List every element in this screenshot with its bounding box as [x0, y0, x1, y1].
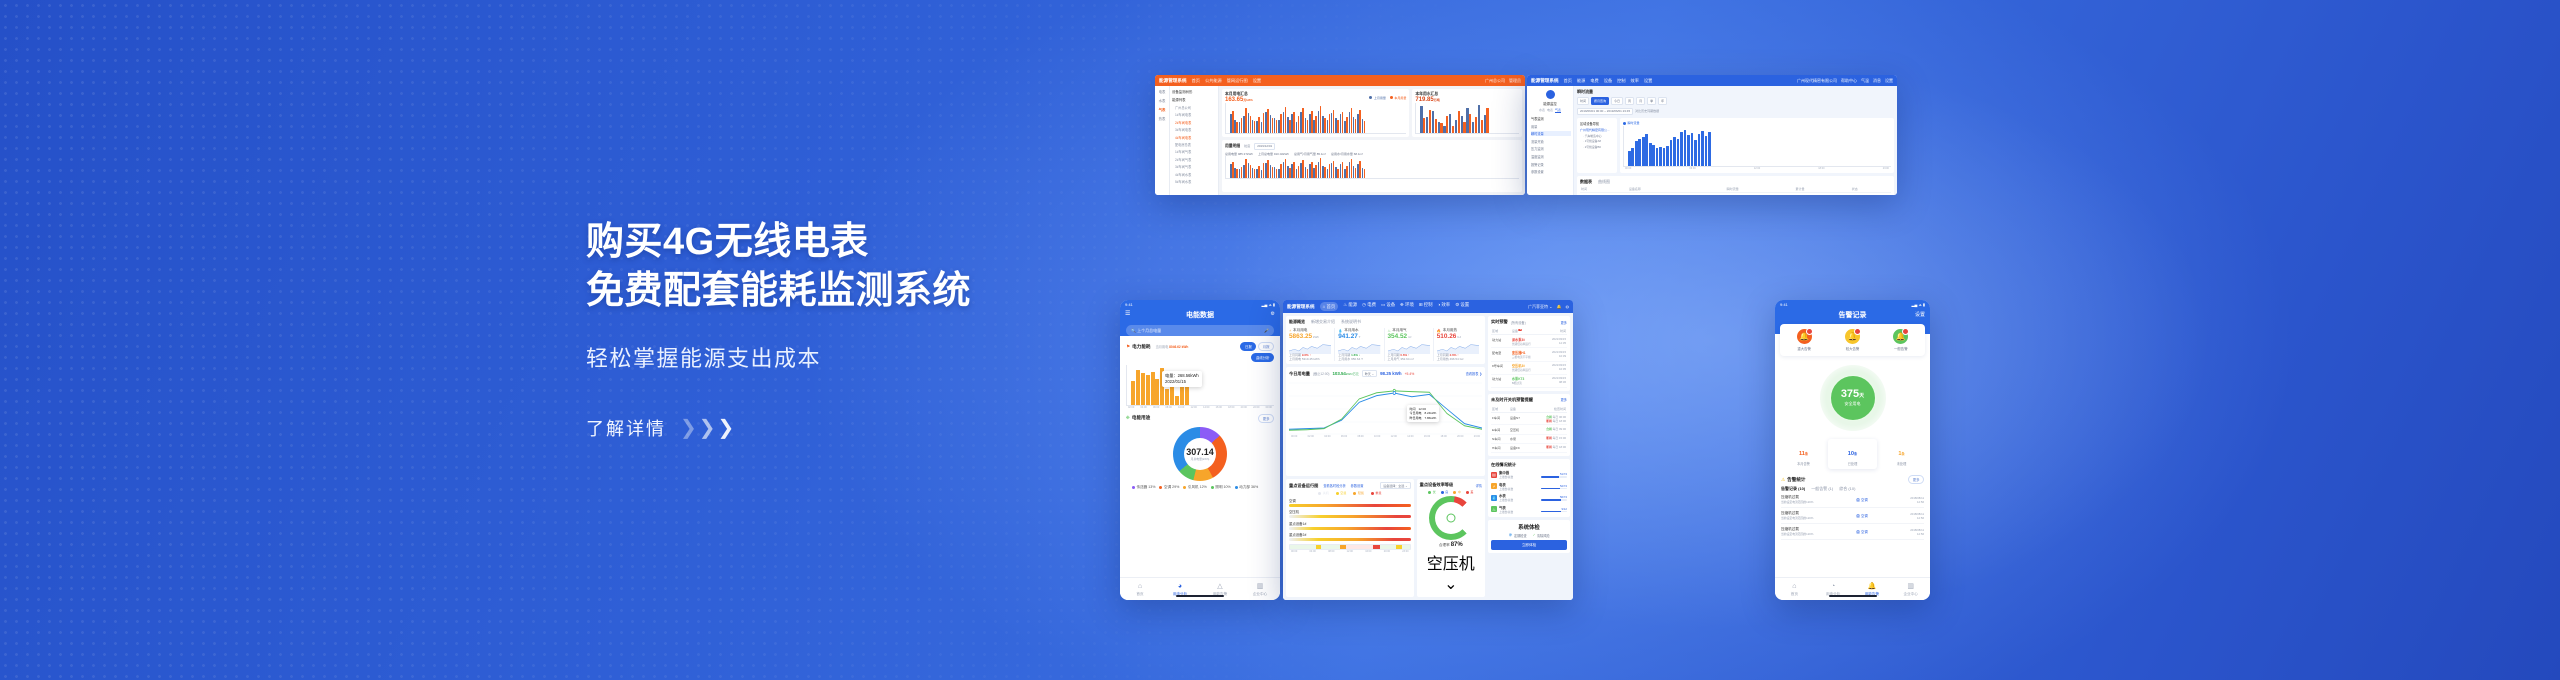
sidebar-item[interactable]: 温度监测: [1531, 154, 1571, 159]
nav-item-设备[interactable]: ▭ 设备: [1381, 302, 1395, 310]
nav-root: 广州现代精密有限公...: [1580, 128, 1614, 132]
tab-label: 首页: [1791, 592, 1798, 596]
reminder-off: 断闸 每日 18:00: [1531, 445, 1566, 449]
bar-group: [1300, 160, 1304, 178]
tab-企业中心[interactable]: ▥企业中心: [1891, 582, 1930, 597]
overview-tab[interactable]: 能源概览: [1289, 319, 1305, 325]
x-axis-labels: 02:0004:0006:0008:0010:0012:0014:0016:00…: [1126, 406, 1274, 409]
tree-item[interactable]: 2#车间气表: [1175, 157, 1216, 162]
kpi-number: 354.52: [1388, 333, 1408, 340]
nav-item[interactable]: 首页: [1564, 78, 1572, 84]
meter-tab[interactable]: 水表: [1539, 108, 1545, 113]
reminder-device: 空压机: [1509, 425, 1530, 434]
kpi-value: 5863.25 kWh: [1289, 333, 1331, 340]
cta-label: 了解详情: [586, 415, 666, 441]
bar-group: [1478, 105, 1483, 133]
kpi-icon: 💧: [1338, 329, 1342, 333]
alerts-more-link[interactable]: 更多: [1561, 320, 1567, 325]
reminder-zone: F车间: [1491, 413, 1509, 425]
overview-tab[interactable]: 系统说明书: [1341, 319, 1361, 325]
top-nav[interactable]: 首页公共能源管网运行图设置: [1192, 78, 1480, 84]
online-text: 气表上线数/总数: [1499, 505, 1539, 514]
kpi-note-2: 上月用热 496.54 GJ: [1437, 357, 1479, 361]
tab-icon: ◕: [1160, 582, 1200, 591]
bar-group: [1649, 143, 1652, 166]
alarm-stat-row[interactable]: 11条本月告警10条已处理1条未处理: [1779, 439, 1926, 469]
nav-item[interactable]: 首页: [1192, 78, 1200, 84]
bar-group: [1274, 118, 1278, 133]
alarm-stat-value: 10条: [1848, 451, 1857, 457]
nav-item-首页[interactable]: ⌂ 首页: [1320, 302, 1339, 310]
tab-首页[interactable]: ⌂首页: [1120, 582, 1160, 597]
bar-group: [1318, 158, 1322, 178]
nav-item-right[interactable]: 管理员: [1509, 78, 1521, 84]
more-button: 更多: [1908, 475, 1924, 484]
filter-pill[interactable]: 按月查询: [1591, 97, 1609, 105]
filter-pill[interactable]: 年: [1658, 97, 1667, 105]
alert-zone: 动力站: [1491, 335, 1511, 348]
bar-group: [1261, 163, 1265, 178]
icon-rail[interactable]: 电表水表气表热表: [1155, 86, 1170, 195]
nav-item[interactable]: 管网运行图: [1227, 78, 1248, 84]
flag-icon: ⚑: [1126, 344, 1130, 350]
nav-item[interactable]: 能源: [1577, 78, 1585, 84]
axis-tick: 23:00: [1474, 435, 1480, 438]
tab-企业中心[interactable]: ▥企业中心: [1240, 582, 1280, 597]
ring-value: 375天: [1841, 389, 1864, 400]
bar-group: [1449, 114, 1454, 134]
rail-item[interactable]: 热表: [1155, 116, 1169, 121]
tree-item[interactable]: 2#车间电表: [1175, 120, 1216, 125]
bar-group: [1705, 136, 1708, 166]
filter-pill[interactable]: 周: [1625, 97, 1634, 105]
tree-item[interactable]: 4#车间电表: [1175, 135, 1216, 140]
tree-item[interactable]: 5#车间水表: [1175, 179, 1216, 184]
equipment-select[interactable]: 空压机 ⌄: [1427, 556, 1475, 593]
bar-group: [1278, 164, 1282, 178]
bar-group: [1230, 162, 1234, 178]
date-range[interactable]: 2019/06/01 00:00 ~ 2019/06/01 23:45: [1577, 108, 1633, 116]
nav-item-right[interactable]: 气温: [1861, 78, 1869, 84]
meter-type-tabs[interactable]: 水表电表气表: [1529, 108, 1571, 113]
axis-tick: 16:00: [1424, 435, 1430, 438]
meter-icon: ♨: [1491, 506, 1497, 512]
notification-icon[interactable]: 🔔: [1557, 304, 1562, 310]
sidebar-item[interactable]: 报警记录: [1531, 162, 1571, 167]
bar-group: [1248, 163, 1252, 178]
alarm-level-cards[interactable]: 🔔重大告警🔔较大告警🔔一般告警: [1780, 324, 1925, 356]
legend-item: 本月用量: [1390, 96, 1407, 100]
tree-item[interactable]: 1#车间电表: [1175, 112, 1216, 117]
alert-row: 动力站水泵KT3B相过流2021/03/1508:36: [1491, 374, 1567, 387]
reminder-row: E车间空压机合闸 每日 09:00: [1491, 425, 1567, 434]
nav-sub-item[interactable]: · 汽车制造中心: [1583, 134, 1614, 138]
app-brand: 能源管理系统: [1159, 78, 1187, 84]
kpi-card: 💧本月用水941.27 T上月同期 1.6% ↓上月用水 956.64 T: [1338, 328, 1384, 361]
sidebar-item[interactable]: 参数设置: [1531, 169, 1571, 174]
alarm-stat-unit: 条: [1854, 452, 1857, 456]
tree-item[interactable]: 4#车间水表: [1175, 172, 1216, 177]
table-tab[interactable]: 曲线图: [1598, 179, 1610, 185]
report-period-toggle[interactable]: 日报月报: [1240, 342, 1274, 351]
overview-tabs[interactable]: 能源概览新增交易介绍系统说明书: [1289, 319, 1482, 325]
start-checkup-button[interactable]: 立即体检: [1491, 540, 1567, 550]
online-text: 电表上线数/总数: [1499, 482, 1539, 491]
nav-item[interactable]: 设置: [1644, 78, 1652, 84]
nav-sub-item[interactable]: · 1号线设备A8: [1583, 139, 1614, 143]
bar-group: [1349, 108, 1353, 133]
axis-tick: 02:00: [1128, 406, 1134, 409]
legend-item: 动力部 36%: [1235, 485, 1258, 490]
filter-pill[interactable]: 月: [1636, 97, 1645, 105]
bar-group: [1283, 159, 1287, 178]
axis-tick: 08:00: [1166, 406, 1172, 409]
date-filter[interactable]: 2019/12/01: [1254, 143, 1275, 150]
screenshot-phone-energy[interactable]: 9:41 ▂▄ ⏶ ▮ ☰ 电能数据 ⚙ 🔍 上个月总电量 🎤 ⚑ 电力能耗: [1120, 300, 1280, 600]
screenshot-energy-dashboard[interactable]: 能源管理系统 ⌂ 首页♨ 能源◷ 电费▭ 设备❉ 环境⊞ 控制◑ 效率⚙ 设置 …: [1283, 300, 1573, 600]
rail-item[interactable]: 气表: [1155, 107, 1169, 112]
sidebar-title: 能源监控: [1529, 101, 1571, 106]
line-chart-tooltip: 时间 12:00今日用电 8.24kWh昨日用电 7.86kWh: [1407, 405, 1439, 422]
phone-header: 9:41 ▂▄ ⏶ ▮ ☰ 电能数据 ⚙ 🔍 上个月总电量 🎤: [1120, 300, 1280, 336]
device-name: 重点设备1#: [1289, 521, 1411, 526]
device-row: 重点设备1#: [1289, 521, 1411, 530]
overview-card: 能源概览新增交易介绍系统说明书 ⚡本月用电5863.25 kWh上月同期 9.6…: [1286, 316, 1485, 364]
kpi-card: ⚡本月用电5863.25 kWh上月同期 9.6% ↑上月用电 5319.45 …: [1289, 328, 1335, 361]
bar-group: [1131, 381, 1135, 404]
alarm-rows: 压缩机过载当前设定电流范围的120%🖨 空调2018/08/1112:56压缩机…: [1781, 492, 1924, 540]
alarm-tab[interactable]: 告警记录 (10): [1781, 486, 1805, 492]
alarm-tab[interactable]: 一般告警 (1): [1811, 486, 1833, 492]
legend-item: 良: [1441, 490, 1449, 494]
card-title: 重点设备运行图: [1289, 483, 1318, 489]
meter-tab[interactable]: 电表: [1547, 108, 1553, 113]
sidebar[interactable]: 能源监控 水表电表气表 气表监测 用量瞬时流量流量开篇压力监测温度监测报警记录参…: [1527, 86, 1574, 195]
axis-tick: 18:00: [1818, 167, 1824, 170]
bar-group: [1461, 116, 1466, 133]
nav-item[interactable]: 控制: [1617, 78, 1625, 84]
axis-tick: 16:00: [1365, 550, 1371, 553]
reminder-table: 区域设备检查时间 F车间设备N7合闸 每日 06:00断闸 每日 18:00E车…: [1491, 405, 1567, 453]
axis-tick: 16:00: [1216, 406, 1222, 409]
tree-item[interactable]: 配电房总表: [1175, 142, 1216, 147]
nav-item-能源[interactable]: ♨ 能源: [1343, 302, 1357, 310]
timeline-segment: [1321, 545, 1340, 549]
app-brand: 能源管理系统: [1287, 304, 1315, 310]
view-report-link[interactable]: 查看报表 ❯: [1466, 371, 1482, 376]
tree-item[interactable]: 3#车间电表: [1175, 127, 1216, 132]
bar-group: [1243, 108, 1247, 133]
alert-device: 水泵KT3B相过流: [1511, 374, 1543, 387]
kpi-card: ♨本月用气354.52 m³上月同期 0.6% ↑上月用气 352.64 m³: [1388, 328, 1434, 361]
top-nav-right[interactable]: 广州总公司管理员: [1485, 78, 1521, 84]
bar-group: [1331, 161, 1335, 178]
page-title: 电能数据: [1186, 312, 1214, 319]
parameter-settings-link[interactable]: 参数设置: [1351, 483, 1364, 488]
reminder-device: 水泵: [1509, 434, 1530, 443]
chevron-right-icon: ❯❯❯: [680, 418, 734, 438]
table-cell: 正常: [1851, 193, 1891, 195]
progress-track: [1541, 488, 1567, 490]
bar-group: [1243, 159, 1247, 178]
screenshot-blue-admin[interactable]: 能源管理系统 首页能源电费设备控制效率设置 广州现代精密有限公司帮助中心气温消息…: [1527, 75, 1897, 195]
axis-tick: 22:00: [1253, 406, 1259, 409]
region-device-nav[interactable]: 区域设备导航 广州现代精密有限公... · 汽车制造中心· 1号线设备A8· 2…: [1577, 118, 1617, 173]
alarm-row-desc: 当前设定电流范围的120%: [1781, 500, 1813, 504]
mic-icon[interactable]: 🎤: [1264, 328, 1269, 333]
tab-icon: ⌂: [1775, 582, 1814, 591]
bar-group: [1287, 166, 1291, 178]
table-tab[interactable]: 数据表: [1580, 179, 1592, 185]
tree-item[interactable]: 广州总公司: [1175, 105, 1216, 110]
period-segment[interactable]: 月报: [1258, 342, 1274, 351]
efficiency-detail-link[interactable]: 详情: [1476, 483, 1482, 488]
reminder-off: 断闸 每日 18:00: [1531, 419, 1566, 423]
online-row: ♨气表上线数/总数9/12: [1491, 505, 1567, 514]
section-title: ⚑ 电力能耗 当月用电 8046.62 kWh: [1126, 344, 1188, 350]
nav-item-控制[interactable]: ⊞ 控制: [1419, 302, 1433, 310]
table-cell: 126.4: [1726, 193, 1795, 195]
nav-item[interactable]: 公共能源: [1205, 78, 1222, 84]
alarm-row-left: 压缩机过载当前设定电流范围的120%: [1781, 511, 1813, 520]
nav-item[interactable]: 电费: [1590, 78, 1598, 84]
sidebar-item[interactable]: 瞬时流量: [1531, 131, 1571, 136]
top-nav[interactable]: 首页能源电费设备控制效率设置: [1564, 78, 1792, 84]
device-tree[interactable]: 设备监测树形 能源列表 广州总公司1#车间电表2#车间电表3#车间电表4#车间电…: [1170, 86, 1219, 195]
bar-group: [1234, 120, 1238, 133]
meter-icon: 💧: [1491, 495, 1497, 501]
compare-toggle[interactable]: 对比历史同期数据: [1635, 109, 1659, 113]
efficiency-gauge-card: 重点设备效率等级 详情 优良中差 合理率 87% 空压机 ⌄: [1417, 479, 1485, 597]
table-header: 时间: [1543, 327, 1567, 335]
bell-icon: 🔔: [1845, 329, 1860, 344]
tab-icon: ▥: [1891, 582, 1930, 591]
kpi-sparkline: [1388, 341, 1430, 352]
bar-group: [1472, 117, 1477, 134]
bar-group: [1234, 168, 1238, 178]
bar-group: [1278, 114, 1282, 133]
nav-item[interactable]: 设备: [1604, 78, 1612, 84]
alarm-list-row: 压缩机过载当前设定电流范围的120%🖨 空调2018/08/1112:56: [1781, 492, 1924, 508]
overview-tab[interactable]: 新增交易介绍: [1311, 319, 1335, 325]
alert-clock: 12:35: [1544, 341, 1566, 345]
screenshot-orange-admin[interactable]: 能源管理系统 首页公共能源管网运行图设置 广州总公司管理员 电表水表气表热表 设…: [1155, 75, 1525, 195]
online-progress: 51/72: [1541, 472, 1567, 478]
nav-item[interactable]: 效率: [1631, 78, 1639, 84]
nav-item-right[interactable]: 帮助中心: [1841, 78, 1857, 84]
nav-item-效率[interactable]: ◑ 效率: [1438, 302, 1451, 310]
tree-item[interactable]: 1#车间气表: [1175, 149, 1216, 154]
device-select[interactable]: 设备选择：全选 ⌄: [1380, 482, 1410, 489]
axis-tick: 00:00: [1266, 406, 1272, 409]
device-rows: 空调空压机重点设备1#重点设备2#: [1289, 498, 1411, 542]
health-checklist: 🛡定期检查✓清除风险: [1491, 533, 1567, 538]
sidebar-item[interactable]: 流量开篇: [1531, 139, 1571, 144]
bar-group: [1239, 118, 1243, 133]
legend-item: 空载: [1336, 491, 1347, 495]
kpi-icon: 🔥: [1437, 329, 1441, 333]
health-item: ✓清除风险: [1533, 533, 1550, 538]
nav-item-环境[interactable]: ❉ 环境: [1400, 302, 1414, 310]
nav-item-设置[interactable]: ⚙ 设置: [1455, 302, 1469, 310]
bar-group: [1656, 148, 1659, 166]
alarm-stat-label: 本月告警: [1779, 461, 1828, 466]
bar-group: [1309, 162, 1313, 178]
nav-sub-item[interactable]: · 2号线设备B6: [1583, 145, 1614, 149]
gear-icon[interactable]: ⚙: [1271, 311, 1275, 317]
filter-pill[interactable]: 今日: [1611, 97, 1623, 105]
nav-item[interactable]: 设置: [1253, 78, 1261, 84]
meter-tab[interactable]: 气表: [1555, 108, 1561, 113]
alarm-row-left: 压缩机过载当前设定电流范围的120%: [1781, 527, 1813, 536]
alarm-stat[interactable]: 1条未处理: [1877, 439, 1926, 469]
table-header: 区域: [1491, 327, 1511, 335]
axis-tick: 20:00: [1457, 435, 1463, 438]
rail-item[interactable]: 水表: [1155, 98, 1169, 103]
switch-reminder-card: 未及时开关机预警提醒 更多 区域设备检查时间 F车间设备N7合闸 每日 06:0…: [1488, 394, 1570, 456]
remind-more-link[interactable]: 更多: [1561, 397, 1567, 402]
bell-icon: 🔔: [1893, 329, 1908, 344]
axis-tick: 10:00: [1374, 435, 1380, 438]
realtime-alerts-card: 实时预警 (所有设备) 更多 区域设备 6时间 动力站深水泵3#长期低功率运行2…: [1488, 316, 1570, 391]
alarm-level-label: 一般告警: [1877, 346, 1925, 351]
account-icon[interactable]: ◍: [1566, 304, 1570, 310]
subtitle: 轻松掌握能源支出成本: [586, 345, 1106, 374]
leaf-icon: ❉: [1126, 415, 1130, 421]
bar-group: [1426, 110, 1431, 133]
bar-group: [1645, 134, 1648, 166]
chart-legend-label: 瞬时流量: [1623, 121, 1640, 125]
alarm-tab[interactable]: 综合 (10): [1839, 486, 1855, 492]
bar-group: [1270, 115, 1274, 133]
meter-sub: 上线数/总数: [1499, 475, 1539, 479]
alarm-stat[interactable]: 11条本月告警: [1779, 439, 1828, 469]
axis-tick: 12:00: [1191, 406, 1197, 409]
bar-group: [1652, 145, 1655, 166]
filter-pill[interactable]: 时间: [1577, 97, 1589, 105]
table-header: 检查时间: [1530, 405, 1567, 413]
axis-tick: 04:00: [1141, 406, 1147, 409]
system-health-card: 系统体检 🛡定期检查✓清除风险 立即体检: [1488, 520, 1570, 553]
device-load-bar: [1289, 538, 1411, 541]
top-nav-right[interactable]: 广州现代精密有限公司帮助中心气温消息设置: [1797, 78, 1893, 84]
nav-item-right[interactable]: 消息: [1873, 78, 1881, 84]
company-selector[interactable]: 广汽菲亚特 ⌄: [1528, 304, 1552, 310]
bar-group: [1335, 167, 1339, 178]
alarm-stat[interactable]: 10条已处理: [1828, 439, 1877, 469]
sidebar-item[interactable]: 压力监测: [1531, 146, 1571, 151]
usage-stat: 总用气/月用气量 85.1m³: [1294, 152, 1326, 156]
reminder-on: 合闸 每日 09:00: [1531, 427, 1566, 431]
instant-flow-chart-card: 瞬时流量 00:0006:0012:0018:0023:00: [1620, 118, 1894, 173]
tree-title: 设备监测树形: [1172, 89, 1216, 94]
status-bar: 9:41 ▂▄ ⏶ ▮: [1120, 300, 1280, 307]
learn-more-cta[interactable]: 了解详情 ❯❯❯: [586, 415, 1106, 441]
bar-group: [1270, 165, 1274, 178]
bar-group: [1165, 389, 1169, 404]
search-icon-text: 🔍 上个月总电量: [1131, 328, 1161, 334]
alarm-stat-value: 1条: [1898, 451, 1904, 457]
progress-fill: [1541, 476, 1559, 478]
alarm-row-left: 压缩机过载当前设定电流范围的120%: [1781, 495, 1813, 504]
menu-icon[interactable]: ☰: [1125, 310, 1130, 317]
tree-item[interactable]: 3#车间气表: [1175, 164, 1216, 169]
filter-pill[interactable]: 季: [1647, 97, 1656, 105]
filter-controls[interactable]: 时间按月查询今日周月季年: [1577, 97, 1894, 105]
status-bar: 9:41 ▂▄ ⏶ ▮: [1775, 300, 1930, 307]
bar-group: [1155, 379, 1159, 405]
alarm-stats-section: ⚠ 告警统计 更多 告警记录 (10)一般告警 (1)综合 (10) 压缩机过载…: [1781, 475, 1924, 540]
gauge-hub: [1446, 514, 1455, 523]
bar-chart-usage-detail: [1225, 156, 1519, 179]
tab-label: 企业中心: [1903, 592, 1917, 596]
bar-group: [1344, 117, 1348, 133]
device-name: 空调: [1289, 498, 1411, 503]
rail-item[interactable]: 电表: [1155, 89, 1169, 94]
card-month-electricity: 本月用电汇总 163.65万kWh 上月用量本月用量: [1222, 89, 1409, 137]
top-nav[interactable]: ⌂ 首页♨ 能源◷ 电费▭ 设备❉ 环境⊞ 控制◑ 效率⚙ 设置: [1320, 302, 1523, 310]
online-row: ⚡电表上线数/总数52/72: [1491, 482, 1567, 491]
nav-item-right[interactable]: 设置: [1885, 78, 1893, 84]
nav-item-right[interactable]: 广州总公司: [1485, 78, 1505, 84]
segment-analysis-link[interactable]: 查看各时段分析: [1323, 483, 1345, 488]
bar-group: [1331, 110, 1335, 133]
search-input[interactable]: 🔍 上个月总电量 🎤: [1126, 325, 1274, 336]
tab-首页[interactable]: ⌂首页: [1775, 582, 1814, 597]
bar-group: [1466, 108, 1471, 133]
timeline-segment: [1290, 545, 1316, 549]
card-value: 163.65万kWh: [1225, 97, 1253, 103]
period-segment[interactable]: 日报: [1240, 342, 1256, 351]
card-title: 未及时开关机预警提醒: [1491, 397, 1533, 403]
axis-tick: 00:00: [1291, 435, 1297, 438]
alert-desc: 长期低功率运行: [1512, 342, 1542, 346]
tab-icon: 🔔: [1853, 582, 1892, 591]
table-header: 状态: [1851, 185, 1891, 193]
kpi-value: 941.27 T: [1338, 333, 1380, 340]
kpi-sparkline: [1338, 341, 1380, 352]
nav-item-right[interactable]: 广州现代精密有限公司: [1797, 78, 1837, 84]
bar-chart-month-electricity: [1225, 103, 1406, 134]
settings-link[interactable]: 设置: [1915, 311, 1925, 318]
bar-group: [1443, 116, 1448, 133]
bar-group: [1239, 167, 1243, 178]
alert-count-badge: 6: [1518, 329, 1523, 331]
timeline-segment: [1380, 545, 1397, 549]
page-title: 告警记录: [1839, 312, 1867, 319]
bar-group: [1438, 122, 1443, 133]
period-select[interactable]: 昨天 ⌄: [1362, 370, 1377, 377]
alarm-row-date: 2018/08/11: [1910, 528, 1924, 532]
gauge-caption: 合理率 87%: [1420, 542, 1482, 548]
bar-group: [1340, 112, 1344, 133]
bar-group: [1684, 130, 1687, 166]
tab-label: 首页: [1136, 592, 1143, 596]
nav-item-电费[interactable]: ◷ 电费: [1362, 302, 1376, 310]
flow-data-table: 时间设备名称瞬时流量累计量状态 00:001号线设备A8126.48452.1正…: [1580, 185, 1891, 195]
alarm-stat-value: 11条: [1799, 451, 1808, 457]
screenshot-phone-alarm[interactable]: 9:41 ▂▄ ⏶ ▮ 告警记录 设置 🔔重大告警🔔较大告警🔔一般告警 375天…: [1775, 300, 1930, 600]
bar-group: [1659, 147, 1662, 167]
monitor-icon: [1546, 90, 1555, 99]
bar-group: [1628, 151, 1631, 166]
copy-block: 购买4G无线电表 免费配套能耗监测系统 轻松掌握能源支出成本 了解详情 ❯❯❯: [586, 218, 1106, 441]
app-brand: 能源管理系统: [1531, 78, 1559, 84]
alarm-row-clock: 12:56: [1910, 500, 1924, 504]
sidebar-item[interactable]: 用量: [1531, 124, 1571, 129]
meter-icon: ⚡: [1491, 483, 1497, 489]
card-usage-detail: 用量明细 粒度 2019/12/01 总用电量 985.37kWh上月总电量 9…: [1222, 140, 1522, 192]
